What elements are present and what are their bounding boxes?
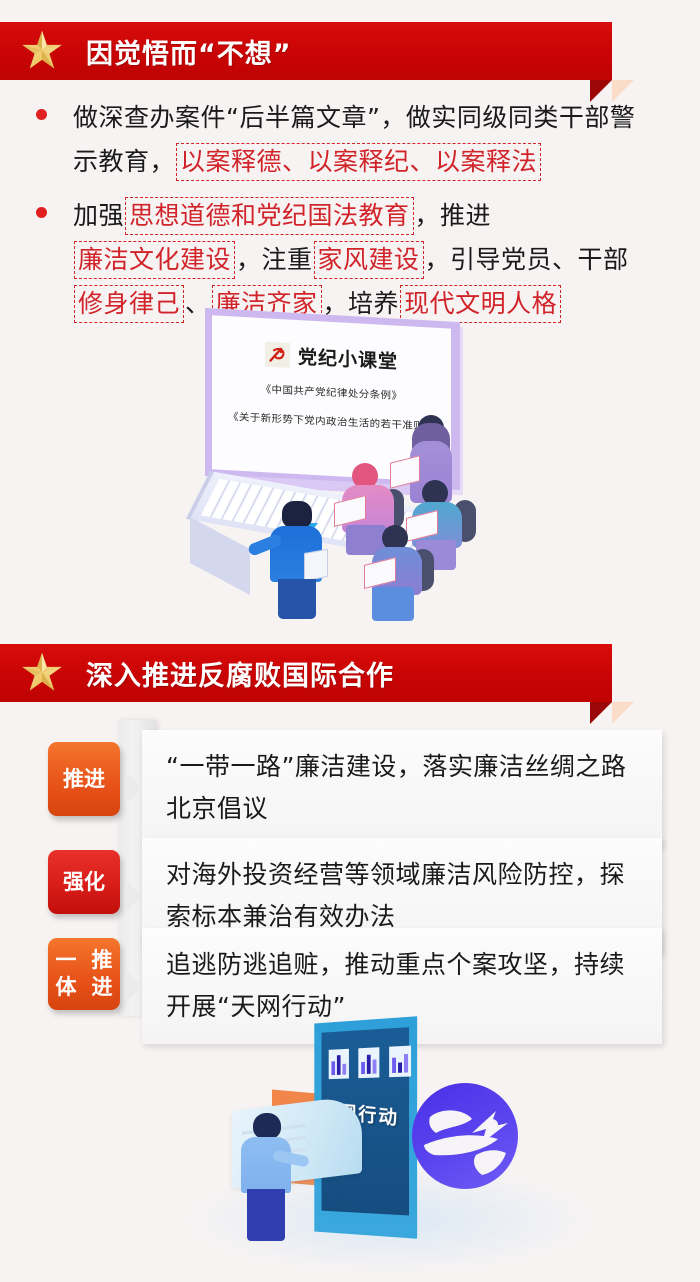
measure-row-box: “一带一路”廉洁建设，落实廉洁丝绸之路北京倡议 bbox=[142, 730, 662, 846]
measure-tag[interactable]: 推进 bbox=[48, 742, 120, 816]
section-title-2: 深入推进反腐败国际合作 bbox=[86, 654, 394, 693]
bullet-list-1: 做深查办案件“后半篇文章”，做实同级同类干部警示教育，以案释德、以案释纪、以案释… bbox=[0, 96, 700, 336]
plain-phrase: ，推进 bbox=[415, 201, 492, 230]
bullet-dot-icon bbox=[36, 109, 47, 120]
banner-fold-shadow bbox=[590, 702, 612, 724]
measure-row-text: “一带一路”廉洁建设，落实廉洁丝绸之路北京倡议 bbox=[166, 746, 646, 830]
measure-tag-line: 推进 bbox=[84, 947, 120, 1001]
plain-phrase: 加强 bbox=[73, 201, 124, 230]
skynet-operation-illustration: 天网行动 bbox=[0, 1015, 700, 1280]
measure-tag-line: 一体 bbox=[48, 947, 84, 1001]
banner-fold-corner bbox=[612, 702, 634, 724]
measure-tag[interactable]: 强化 bbox=[48, 850, 120, 914]
party-discipline-classroom-illustration: 党纪小课堂 《中国共产党纪律处分条例》 《关于新形势下党内政治生活的若干准则》 bbox=[0, 305, 700, 625]
measure-tag[interactable]: 一体推进 bbox=[48, 938, 120, 1010]
gold-star-icon bbox=[20, 652, 64, 694]
infographic-page: 因觉悟而“不想” 做深查办案件“后半篇文章”，做实同级同类干部警示教育，以案释德… bbox=[0, 0, 700, 1282]
plain-phrase: ，注重 bbox=[236, 245, 313, 274]
section-banner-2: 深入推进反腐败国际合作 bbox=[0, 644, 612, 702]
desk-leg bbox=[190, 517, 250, 595]
gold-star-icon bbox=[20, 30, 64, 72]
globe-airplane-icon bbox=[412, 1083, 518, 1189]
highlighted-phrase: 思想道德和党纪国法教育 bbox=[125, 197, 414, 235]
measure-row[interactable]: “一带一路”廉洁建设，落实廉洁丝绸之路北京倡议 bbox=[142, 730, 662, 846]
measure-row-text: 对海外投资经营等领域廉洁风险防控，探索标本兼治有效办法 bbox=[166, 854, 646, 938]
plain-phrase: ，引导党员、干部 bbox=[425, 245, 629, 274]
section-banner-1: 因觉悟而“不想” bbox=[0, 22, 612, 80]
party-emblem-icon bbox=[265, 342, 290, 368]
measure-tag-line: 推进 bbox=[63, 766, 105, 793]
bullet-item: 做深查办案件“后半篇文章”，做实同级同类干部警示教育，以案释德、以案释纪、以案释… bbox=[0, 96, 700, 184]
highlighted-phrase: 家风建设 bbox=[314, 241, 424, 279]
whiteboard-line-1: 《中国共产党纪律处分条例》 bbox=[212, 379, 451, 405]
presenter-figure bbox=[262, 501, 332, 616]
audience-figure-4 bbox=[368, 525, 440, 625]
highlighted-phrase: 廉洁文化建设 bbox=[74, 241, 235, 279]
bullet-dot-icon bbox=[36, 207, 47, 218]
section-title-1: 因觉悟而“不想” bbox=[86, 32, 292, 71]
whiteboard-title: 党纪小课堂 bbox=[298, 342, 398, 374]
highlighted-phrase: 以案释德、以案释纪、以案释法 bbox=[176, 143, 541, 181]
bullet-text: 做深查办案件“后半篇文章”，做实同级同类干部警示教育，以案释德、以案释纪、以案释… bbox=[73, 96, 645, 184]
measure-tag-line: 强化 bbox=[63, 869, 105, 896]
person-figure bbox=[235, 1113, 305, 1243]
